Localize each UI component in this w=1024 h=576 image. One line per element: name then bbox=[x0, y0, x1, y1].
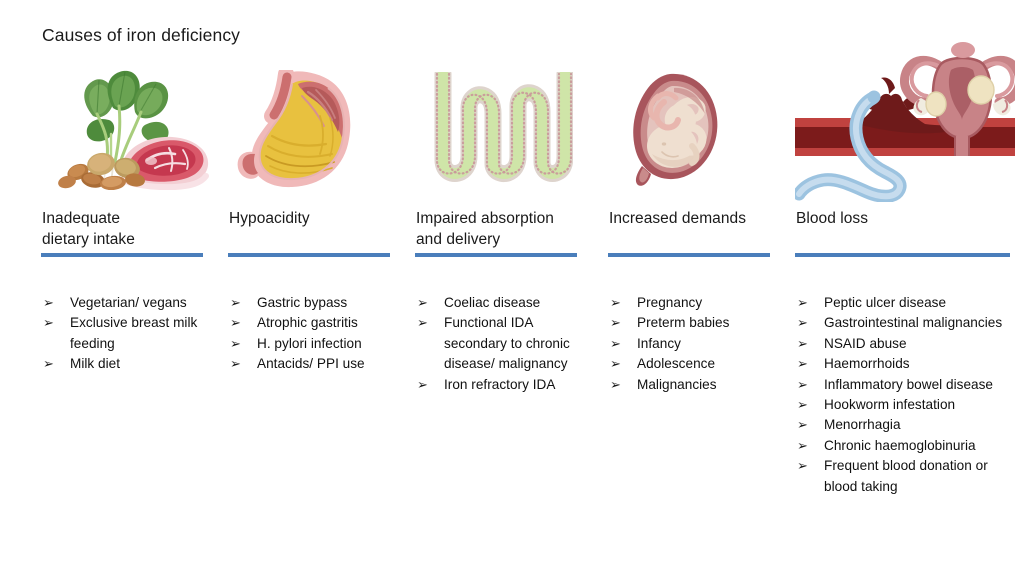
bullet-list-inadequate-dietary-intake: ➢Vegetarian/ vegans ➢Exclusive breast mi… bbox=[41, 293, 221, 375]
list-item: ➢Chronic haemoglobinuria bbox=[795, 436, 1005, 456]
bullet-arrow-icon: ➢ bbox=[610, 293, 621, 313]
bullet-arrow-icon: ➢ bbox=[230, 293, 241, 313]
column-heading-inadequate-dietary-intake: Inadequate dietary intake bbox=[42, 208, 222, 250]
list-item-text: Vegetarian/ vegans bbox=[70, 295, 187, 310]
list-item-text: Gastric bypass bbox=[257, 295, 347, 310]
column-heading-hypoacidity: Hypoacidity bbox=[229, 208, 409, 229]
intestine-villi-icon bbox=[433, 72, 573, 184]
stomach-icon bbox=[236, 70, 366, 192]
blood-vessel-hookworm-uterus-icon bbox=[795, 32, 1015, 202]
bullet-arrow-icon: ➢ bbox=[610, 334, 621, 354]
bullet-arrow-icon: ➢ bbox=[797, 456, 808, 476]
bullet-list-blood-loss: ➢Peptic ulcer disease ➢Gastrointestinal … bbox=[795, 293, 1005, 497]
column-heading-impaired-absorption-and-delivery: Impaired absorption and delivery bbox=[416, 208, 616, 250]
column-divider-impaired-absorption-and-delivery bbox=[415, 253, 577, 257]
bullet-arrow-icon: ➢ bbox=[610, 375, 621, 395]
bullet-list-impaired-absorption-and-delivery: ➢Coeliac disease ➢Functional IDA seconda… bbox=[415, 293, 585, 395]
bullet-arrow-icon: ➢ bbox=[797, 313, 808, 333]
list-item-text: Iron refractory IDA bbox=[444, 377, 555, 392]
list-item-text: Inflammatory bowel disease bbox=[824, 377, 993, 392]
list-item-text: Milk diet bbox=[70, 356, 120, 371]
list-item: ➢Iron refractory IDA bbox=[415, 375, 585, 395]
list-item-text: Infancy bbox=[637, 336, 681, 351]
list-item: ➢Inflammatory bowel disease bbox=[795, 375, 1005, 395]
list-item-text: Antacids/ PPI use bbox=[257, 356, 365, 371]
list-item: ➢Malignancies bbox=[608, 375, 783, 395]
bullet-arrow-icon: ➢ bbox=[797, 395, 808, 415]
list-item: ➢Gastric bypass bbox=[228, 293, 408, 313]
list-item-text: Menorrhagia bbox=[824, 417, 901, 432]
column-increased-demands: Increased demands ➢Pregnancy ➢Preterm ba… bbox=[608, 60, 783, 195]
list-item: ➢Antacids/ PPI use bbox=[228, 354, 408, 374]
bullet-arrow-icon: ➢ bbox=[43, 354, 54, 374]
list-item: ➢Preterm babies bbox=[608, 313, 783, 333]
list-item: ➢Frequent blood donation or blood taking bbox=[795, 456, 1005, 497]
list-item-text: Adolescence bbox=[637, 356, 715, 371]
bullet-arrow-icon: ➢ bbox=[610, 354, 621, 374]
column-impaired-absorption-and-delivery: Impaired absorption and delivery ➢Coelia… bbox=[415, 60, 590, 195]
bullet-arrow-icon: ➢ bbox=[797, 293, 808, 313]
list-item-text: Pregnancy bbox=[637, 295, 702, 310]
column-divider-inadequate-dietary-intake bbox=[41, 253, 203, 257]
list-item-text: Exclusive breast milk feeding bbox=[70, 315, 197, 350]
fetus-in-uterus-icon bbox=[618, 68, 738, 190]
list-item: ➢H. pylori infection bbox=[228, 334, 408, 354]
list-item-text: Coeliac disease bbox=[444, 295, 540, 310]
leafy-greens-nuts-steak-icon bbox=[51, 68, 211, 190]
bullet-arrow-icon: ➢ bbox=[797, 354, 808, 374]
list-item-text: Haemorrhoids bbox=[824, 356, 910, 371]
list-item-text: Functional IDA secondary to chronic dise… bbox=[444, 315, 570, 371]
illustration-increased-demands bbox=[608, 60, 783, 195]
illustration-blood-loss bbox=[795, 60, 1015, 195]
list-item-text: Frequent blood donation or blood taking bbox=[824, 458, 988, 493]
list-item: ➢Vegetarian/ vegans bbox=[41, 293, 221, 313]
bullet-arrow-icon: ➢ bbox=[230, 334, 241, 354]
list-item-text: Preterm babies bbox=[637, 315, 729, 330]
column-divider-increased-demands bbox=[608, 253, 770, 257]
bullet-arrow-icon: ➢ bbox=[610, 313, 621, 333]
bullet-arrow-icon: ➢ bbox=[43, 293, 54, 313]
column-hypoacidity: Hypoacidity ➢Gastric bypass ➢Atrophic ga… bbox=[228, 60, 403, 195]
bullet-arrow-icon: ➢ bbox=[797, 375, 808, 395]
page-title: Causes of iron deficiency bbox=[42, 24, 240, 46]
list-item-text: NSAID abuse bbox=[824, 336, 907, 351]
list-item-text: Atrophic gastritis bbox=[257, 315, 358, 330]
list-item: ➢Functional IDA secondary to chronic dis… bbox=[415, 313, 585, 374]
illustration-inadequate-dietary-intake bbox=[41, 60, 216, 195]
list-item: ➢Coeliac disease bbox=[415, 293, 585, 313]
list-item: ➢Gastrointestinal malignancies bbox=[795, 313, 1005, 333]
list-item: ➢Peptic ulcer disease bbox=[795, 293, 1005, 313]
list-item-text: H. pylori infection bbox=[257, 336, 362, 351]
columns-container: Inadequate dietary intake ➢Vegetarian/ v… bbox=[0, 60, 1024, 576]
list-item-text: Chronic haemoglobinuria bbox=[824, 438, 976, 453]
list-item: ➢NSAID abuse bbox=[795, 334, 1005, 354]
list-item: ➢Exclusive breast milk feeding bbox=[41, 313, 221, 354]
list-item: ➢Pregnancy bbox=[608, 293, 783, 313]
list-item: ➢Infancy bbox=[608, 334, 783, 354]
list-item-text: Peptic ulcer disease bbox=[824, 295, 946, 310]
column-divider-hypoacidity bbox=[228, 253, 390, 257]
bullet-arrow-icon: ➢ bbox=[417, 313, 428, 333]
list-item: ➢Adolescence bbox=[608, 354, 783, 374]
list-item: ➢Menorrhagia bbox=[795, 415, 1005, 435]
illustration-hypoacidity bbox=[228, 60, 403, 195]
column-inadequate-dietary-intake: Inadequate dietary intake ➢Vegetarian/ v… bbox=[41, 60, 216, 195]
list-item: ➢Haemorrhoids bbox=[795, 354, 1005, 374]
bullet-arrow-icon: ➢ bbox=[797, 334, 808, 354]
column-heading-increased-demands: Increased demands bbox=[609, 208, 799, 229]
list-item: ➢Hookworm infestation bbox=[795, 395, 1005, 415]
column-blood-loss: Blood loss ➢Peptic ulcer disease ➢Gastro… bbox=[795, 60, 1015, 195]
column-divider-blood-loss bbox=[795, 253, 1010, 257]
bullet-arrow-icon: ➢ bbox=[43, 313, 54, 333]
bullet-list-hypoacidity: ➢Gastric bypass ➢Atrophic gastritis ➢H. … bbox=[228, 293, 408, 375]
column-heading-blood-loss: Blood loss bbox=[796, 208, 996, 229]
bullet-arrow-icon: ➢ bbox=[797, 415, 808, 435]
bullet-arrow-icon: ➢ bbox=[797, 436, 808, 456]
bullet-arrow-icon: ➢ bbox=[230, 313, 241, 333]
bullet-list-increased-demands: ➢Pregnancy ➢Preterm babies ➢Infancy ➢Ado… bbox=[608, 293, 783, 395]
illustration-impaired-absorption bbox=[415, 60, 590, 195]
list-item-text: Gastrointestinal malignancies bbox=[824, 315, 1002, 330]
bullet-arrow-icon: ➢ bbox=[417, 293, 428, 313]
bullet-arrow-icon: ➢ bbox=[230, 354, 241, 374]
list-item: ➢Atrophic gastritis bbox=[228, 313, 408, 333]
bullet-arrow-icon: ➢ bbox=[417, 375, 428, 395]
list-item-text: Hookworm infestation bbox=[824, 397, 955, 412]
list-item-text: Malignancies bbox=[637, 377, 717, 392]
list-item: ➢Milk diet bbox=[41, 354, 221, 374]
